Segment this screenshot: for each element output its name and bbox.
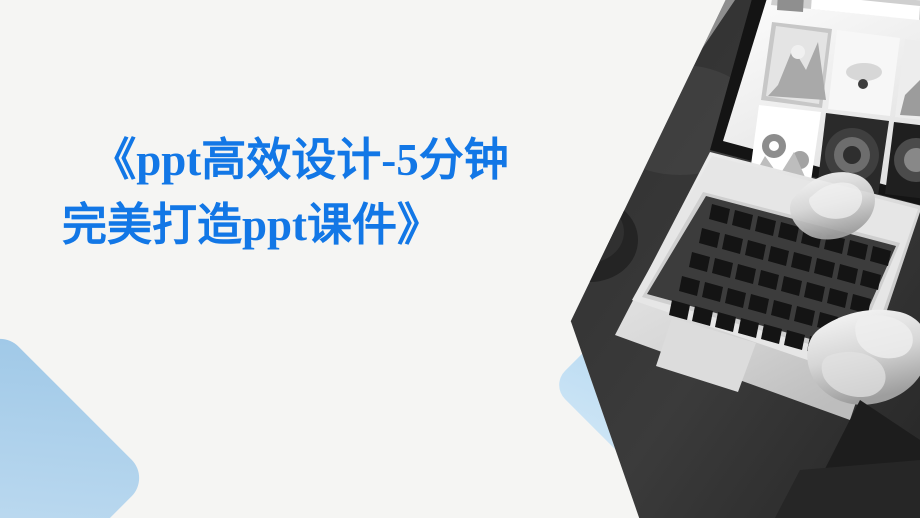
- slide-title-line-1: 《ppt高效设计-5分钟: [60, 128, 540, 193]
- diamond-shape-bottom-left: [0, 328, 150, 518]
- slide-title-line-2: 完美打造ppt课件》: [60, 193, 540, 258]
- presentation-slide: 《ppt高效设计-5分钟 完美打造ppt课件》: [0, 0, 920, 518]
- slide-title: 《ppt高效设计-5分钟 完美打造ppt课件》: [60, 128, 540, 258]
